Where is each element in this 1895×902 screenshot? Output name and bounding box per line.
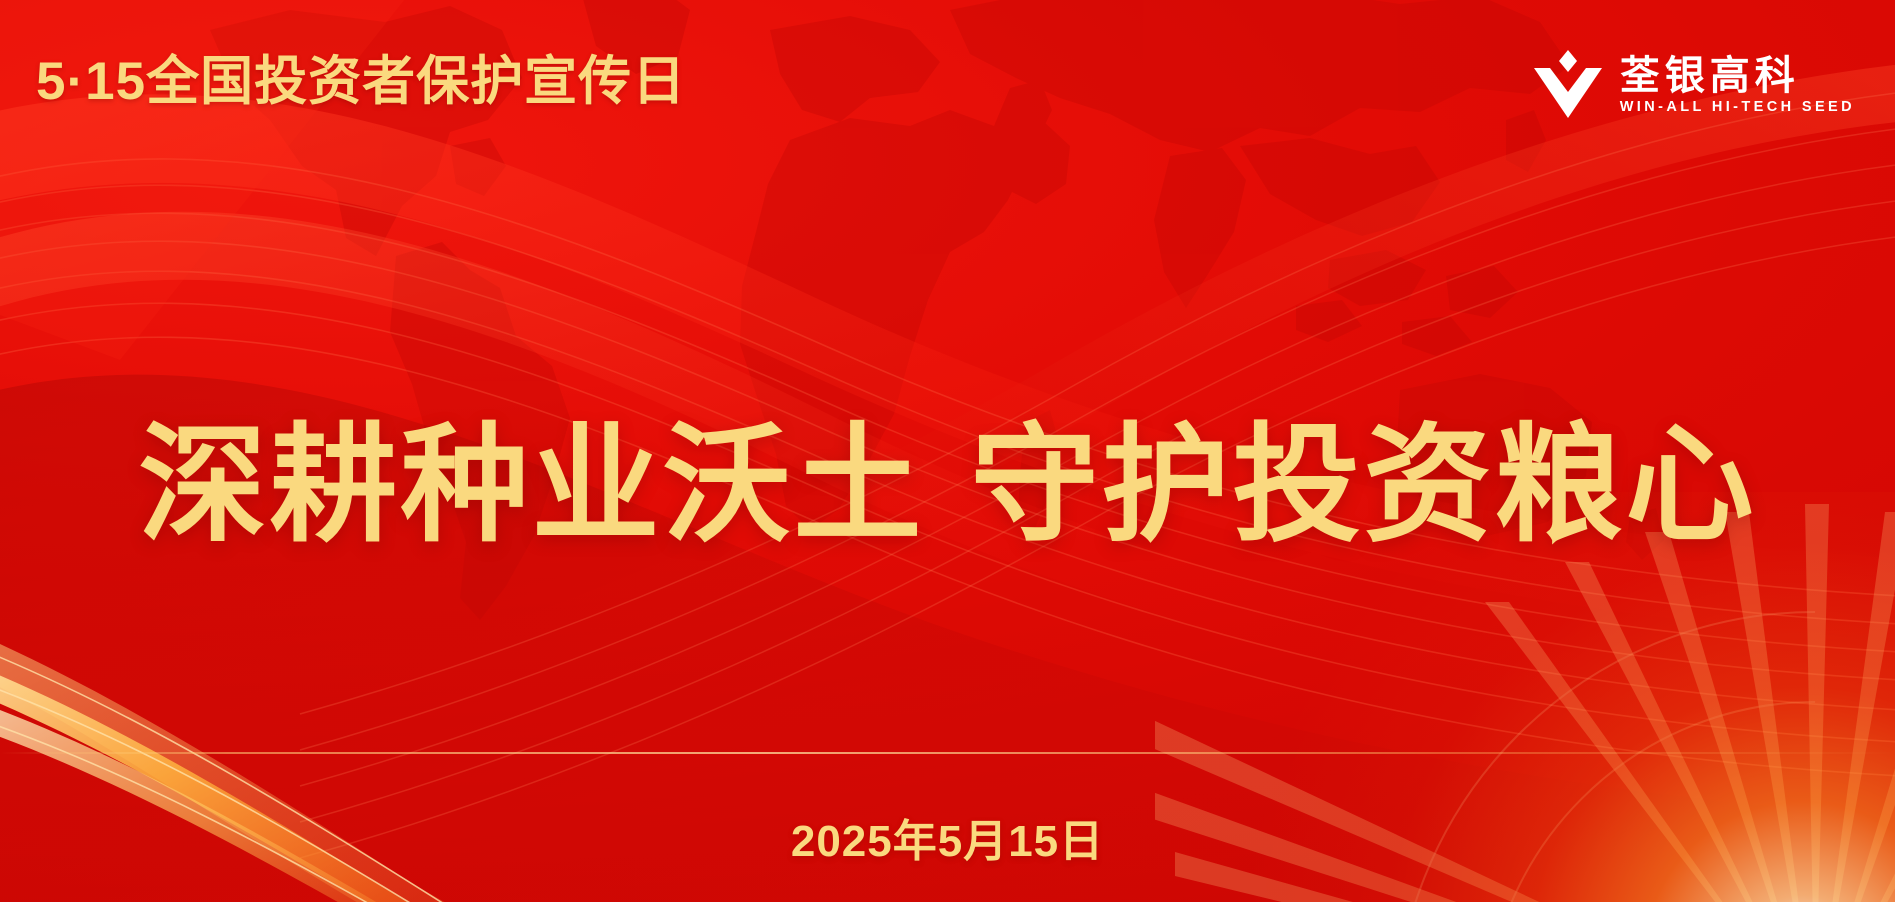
logo-name-en: WIN-ALL HI-TECH SEED bbox=[1620, 100, 1855, 115]
headline-phrase-right: 守护投资粮心 bbox=[971, 414, 1757, 557]
company-logo: 荃银高科 WIN-ALL HI-TECH SEED bbox=[1532, 48, 1855, 122]
headline-phrase-left: 深耕种业沃土 bbox=[138, 414, 924, 557]
investor-protection-day-banner: 5·15全国投资者保护宣传日 深耕种业沃土守护投资粮心 2025年5月15日 荃… bbox=[0, 0, 1895, 902]
win-all-chevron-icon bbox=[1532, 48, 1604, 122]
logo-name-cn: 荃银高科 bbox=[1620, 56, 1855, 96]
logo-wordmark: 荃银高科 WIN-ALL HI-TECH SEED bbox=[1620, 56, 1855, 115]
campaign-eyebrow-title: 5·15全国投资者保护宣传日 bbox=[36, 54, 686, 110]
main-headline: 深耕种业沃土守护投资粮心 bbox=[0, 414, 1895, 557]
banner-content: 5·15全国投资者保护宣传日 深耕种业沃土守护投资粮心 2025年5月15日 荃… bbox=[0, 0, 1895, 902]
event-date: 2025年5月15日 bbox=[0, 805, 1895, 869]
